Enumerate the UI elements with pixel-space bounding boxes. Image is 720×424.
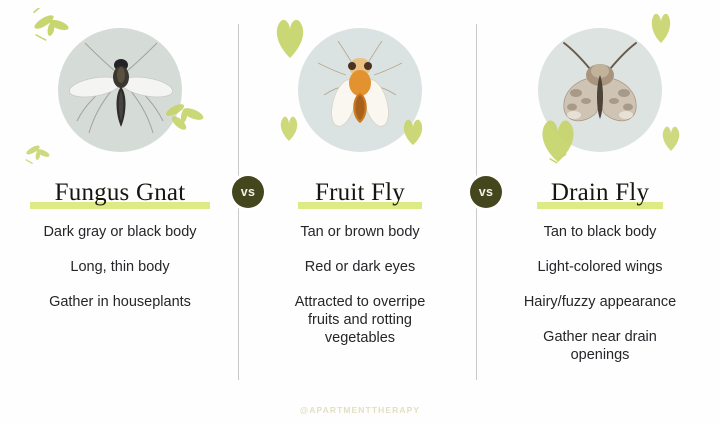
vs-badge: vs: [470, 176, 502, 208]
feature-item: Hairy/fuzzy appearance: [524, 293, 676, 311]
column-fungus-gnat: Fungus Gnat Dark gray or black body Long…: [0, 0, 240, 424]
comparison-columns: Fungus Gnat Dark gray or black body Long…: [0, 0, 720, 424]
column-title: Fruit Fly: [315, 179, 405, 207]
photo-wrapper: [515, 22, 685, 157]
drain-fly-photo: [538, 28, 662, 152]
feature-item: Attracted to overripe fruits and rotting…: [280, 293, 440, 347]
feature-item: Tan or brown body: [300, 223, 419, 241]
feature-item: Long, thin body: [70, 258, 169, 276]
feature-item: Gather near drain openings: [525, 328, 675, 364]
vs-badge: vs: [232, 176, 264, 208]
insect-comparison-infographic: vs vs: [0, 0, 720, 424]
column-drain-fly: Drain Fly Tan to black body Light-colore…: [480, 0, 720, 424]
feature-list: Tan to black body Light-colored wings Ha…: [480, 223, 720, 381]
feature-list: Tan or brown body Red or dark eyes Attra…: [240, 223, 480, 364]
feature-item: Red or dark eyes: [305, 258, 415, 276]
column-title: Fungus Gnat: [55, 179, 186, 207]
title-block: Fruit Fly: [315, 175, 405, 211]
photo-wrapper: [275, 22, 445, 157]
column-title: Drain Fly: [551, 179, 649, 207]
photo-wrapper: [35, 22, 205, 157]
feature-item: Tan to black body: [544, 223, 657, 241]
feature-item: Dark gray or black body: [43, 223, 196, 241]
feature-item: Gather in houseplants: [49, 293, 191, 311]
column-fruit-fly: Fruit Fly Tan or brown body Red or dark …: [240, 0, 480, 424]
feature-list: Dark gray or black body Long, thin body …: [0, 223, 240, 328]
title-block: Drain Fly: [551, 175, 649, 211]
fungus-gnat-photo: [58, 28, 182, 152]
feature-item: Light-colored wings: [538, 258, 663, 276]
title-block: Fungus Gnat: [55, 175, 186, 211]
watermark: @APARTMENTTHERAPY: [0, 405, 720, 415]
fruit-fly-photo: [298, 28, 422, 152]
